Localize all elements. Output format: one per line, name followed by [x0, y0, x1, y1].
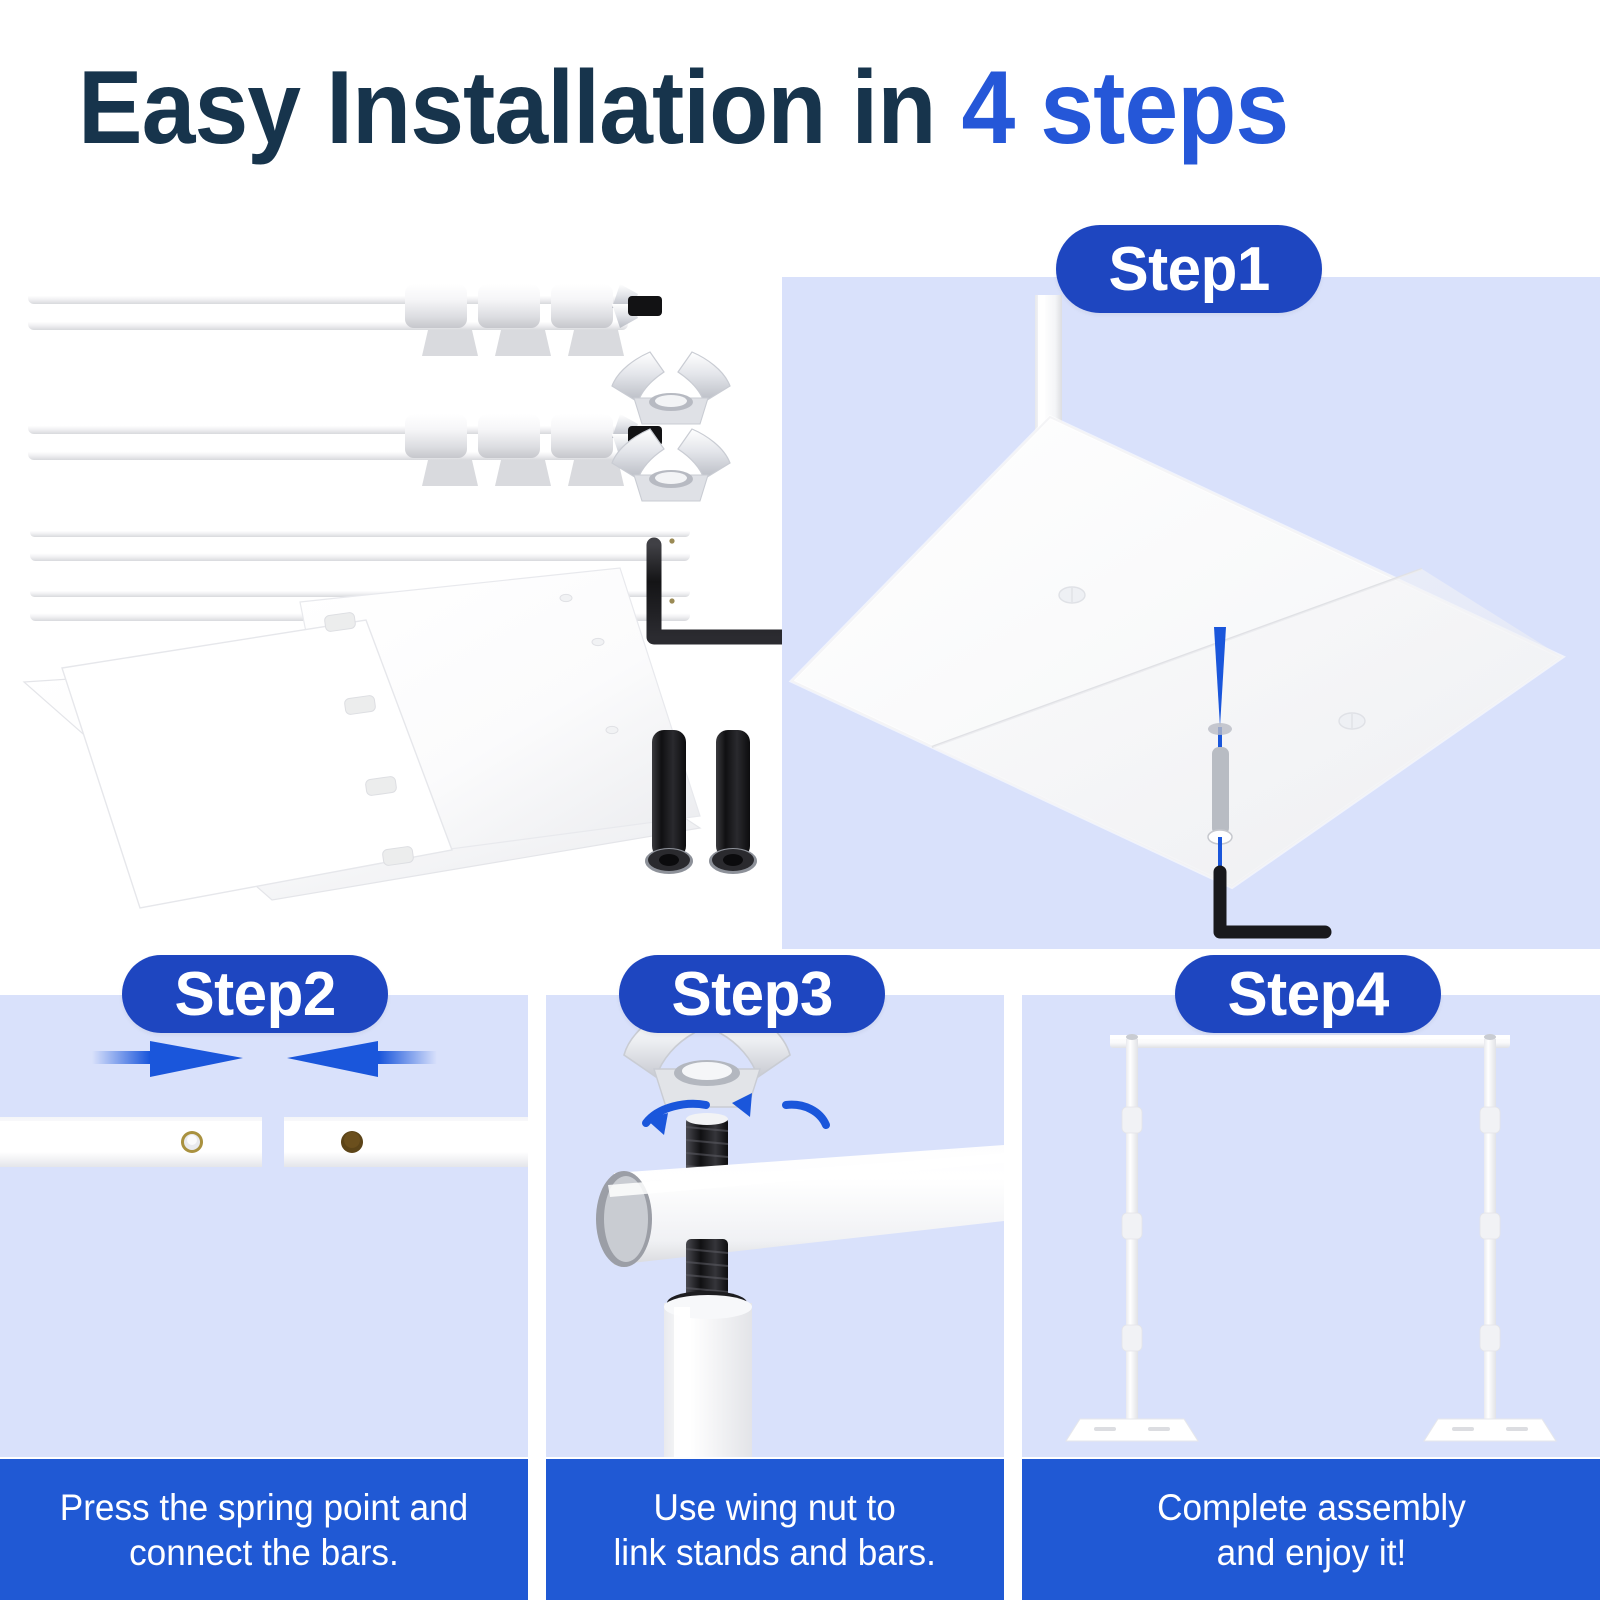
- step2-badge[interactable]: Step2: [122, 955, 388, 1033]
- step1-badge[interactable]: Step1: [1056, 225, 1322, 313]
- step2-caption-bar: Press the spring point and connect the b…: [0, 1459, 528, 1600]
- page-title-blue-part: 4 steps: [961, 50, 1288, 166]
- step3-illustration: [546, 995, 1004, 1457]
- step4-badge-label: Step4: [1227, 959, 1388, 1030]
- rod-assembly-lower: [28, 414, 662, 486]
- step2-badge-label: Step2: [174, 959, 335, 1030]
- arrow-right: [92, 1041, 243, 1077]
- vertical-post: [664, 1295, 752, 1457]
- step3-caption-line-1: Use wing nut to: [614, 1485, 936, 1530]
- rod-assembly-upper: [28, 284, 662, 356]
- hex-bolt-parts: [645, 730, 757, 874]
- step2-illustration: [0, 995, 528, 1457]
- step3-badge-label: Step3: [671, 959, 832, 1030]
- horizontal-bar: [596, 1145, 1004, 1267]
- left-post: [1066, 1034, 1198, 1441]
- infographic-canvas: Easy Installation in 4 steps: [0, 0, 1600, 1600]
- step4-caption-line-2: and enjoy it!: [1157, 1530, 1466, 1575]
- vertical-rod: [1035, 295, 1062, 435]
- crossbar: [1110, 1035, 1510, 1048]
- step4-panel: [1022, 995, 1600, 1457]
- step4-caption-line-1: Complete assembly: [1157, 1485, 1466, 1530]
- metal-base-plate: [792, 417, 1562, 887]
- parts-layout-illustration: [0, 200, 790, 930]
- step3-caption-line-2: link stands and bars.: [614, 1530, 936, 1575]
- right-bar: [284, 1117, 528, 1167]
- left-bar: [0, 1117, 262, 1167]
- step2-caption-line-1: Press the spring point and: [60, 1485, 468, 1530]
- arrow-left: [287, 1041, 437, 1077]
- step1-illustration: [782, 277, 1600, 949]
- step1-caption: Connect Vertical rod with heavy duty met…: [1582, 1083, 1600, 1213]
- parts-svg: [0, 200, 790, 930]
- step2-panel: [0, 995, 528, 1457]
- right-post: [1424, 1034, 1556, 1441]
- page-title-dark-part: Easy Installation in: [78, 50, 936, 166]
- step4-caption-bar: Complete assembly and enjoy it!: [1022, 1459, 1600, 1600]
- step3-badge[interactable]: Step3: [619, 955, 885, 1033]
- page-title: Easy Installation in 4 steps: [78, 48, 1436, 168]
- step1-panel: Connect Vertical rod with heavy duty met…: [782, 277, 1600, 949]
- step2-caption-line-2: connect the bars.: [60, 1530, 468, 1575]
- step3-caption-bar: Use wing nut to link stands and bars.: [546, 1459, 1004, 1600]
- step4-illustration: [1022, 995, 1600, 1457]
- step3-panel: [546, 995, 1004, 1457]
- step4-badge[interactable]: Step4: [1175, 955, 1441, 1033]
- step1-badge-label: Step1: [1108, 234, 1269, 305]
